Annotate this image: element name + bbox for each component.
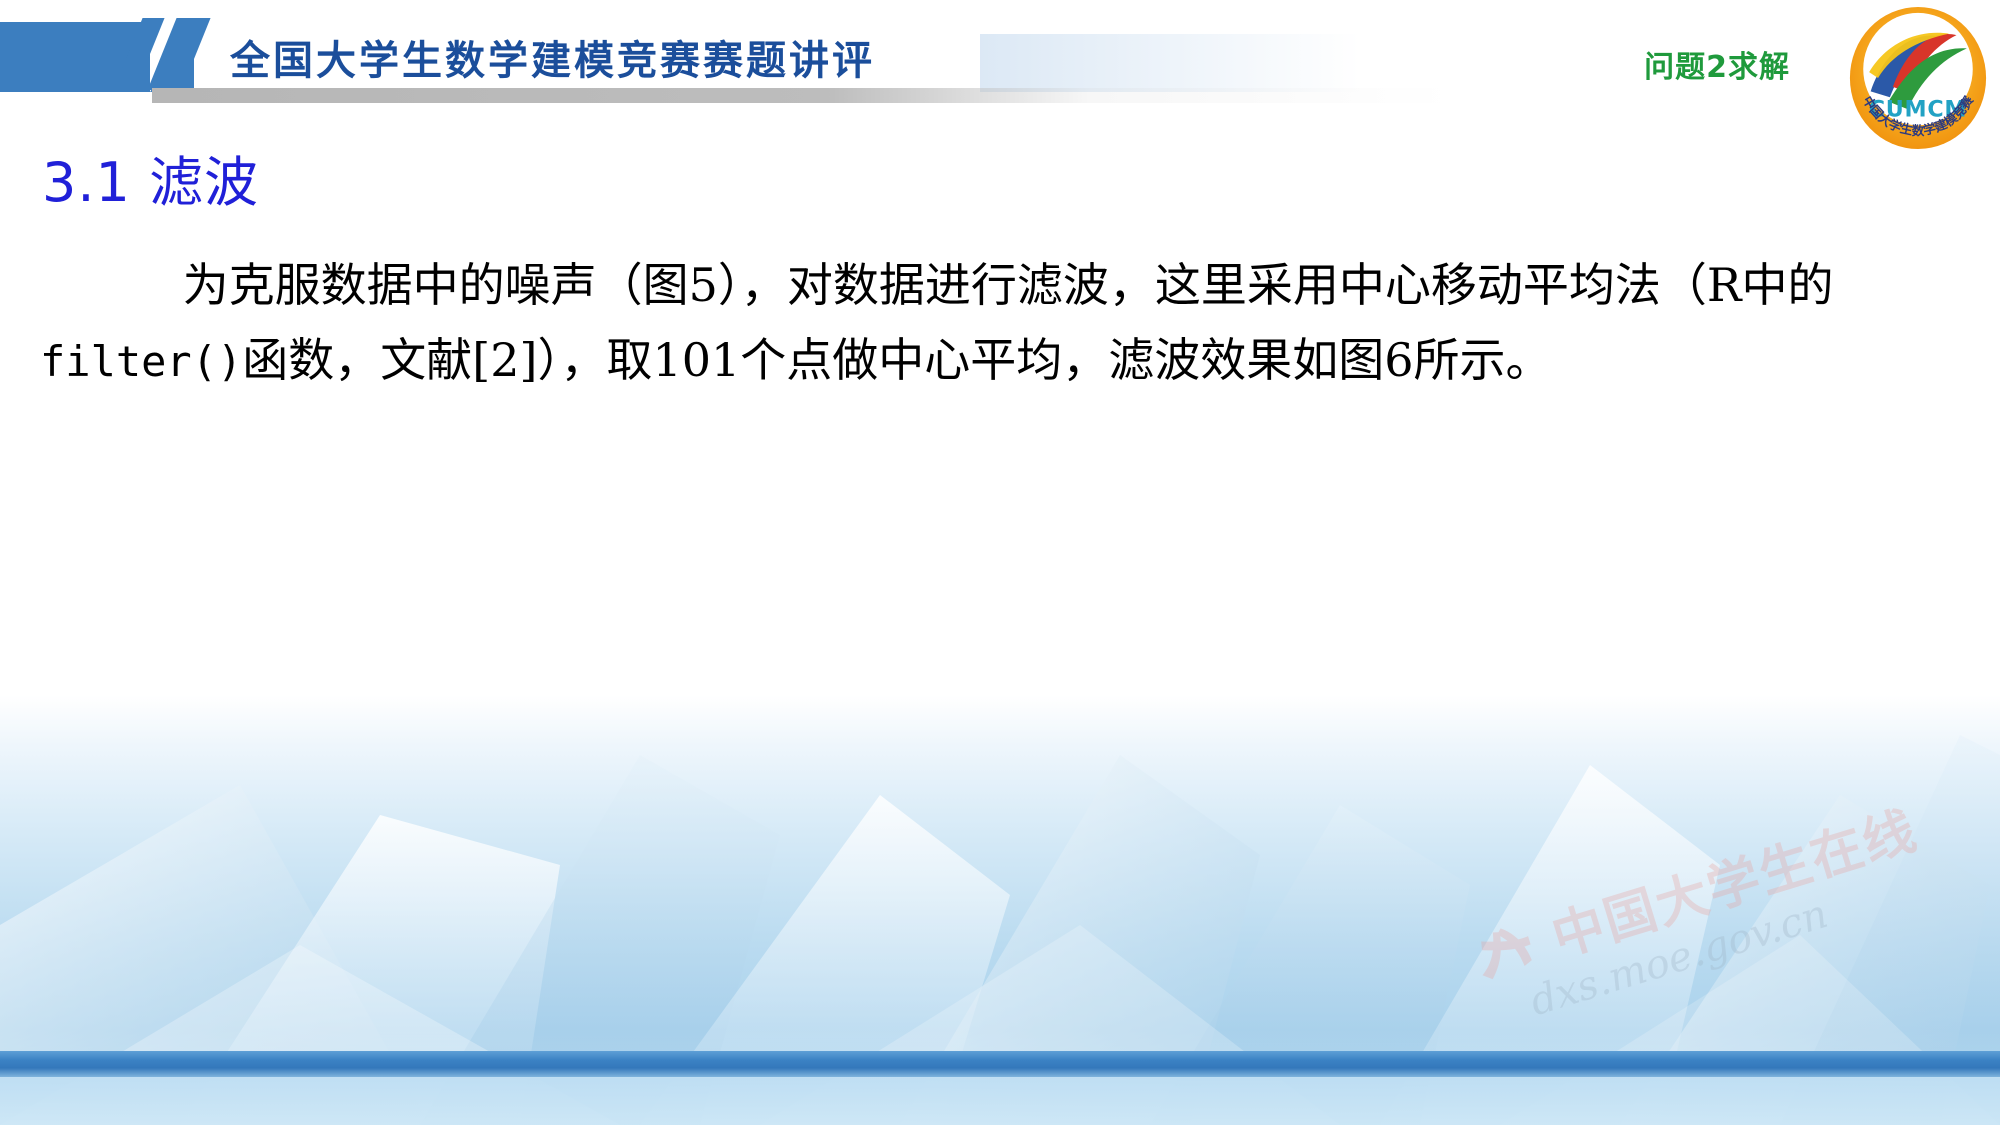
paragraph-code: filter(): [40, 337, 242, 386]
slide-header: 全国大学生数学建模竞赛赛题讲评 问题2求解 CUMCM 中国大学生数学建模竞赛: [0, 0, 2000, 120]
header-section-label: 问题2求解: [1644, 42, 1790, 86]
slide-content: 3.1 滤波 为克服数据中的噪声（图5），对数据进行滤波，这里采用中心移动平均法…: [0, 0, 2000, 1125]
paragraph-part-1: 为克服数据中的噪声（图5），对数据进行滤波，这里采用中心移动平均法（R中的: [183, 258, 1834, 312]
header-banner-title: 全国大学生数学建模竞赛赛题讲评: [230, 28, 875, 86]
page-title: 3.1 滤波: [42, 138, 259, 217]
header-fade-strip: [980, 34, 1360, 92]
cumcm-logo: CUMCM 中国大学生数学建模竞赛: [1844, 4, 1992, 152]
paragraph-part-2: 函数，文献[2]），取101个点做中心平均，滤波效果如图6所示。: [242, 333, 1551, 387]
body-paragraph: 为克服数据中的噪声（图5），对数据进行滤波，这里采用中心移动平均法（R中的fil…: [40, 248, 1945, 397]
header-gray-bar: [152, 88, 1452, 103]
